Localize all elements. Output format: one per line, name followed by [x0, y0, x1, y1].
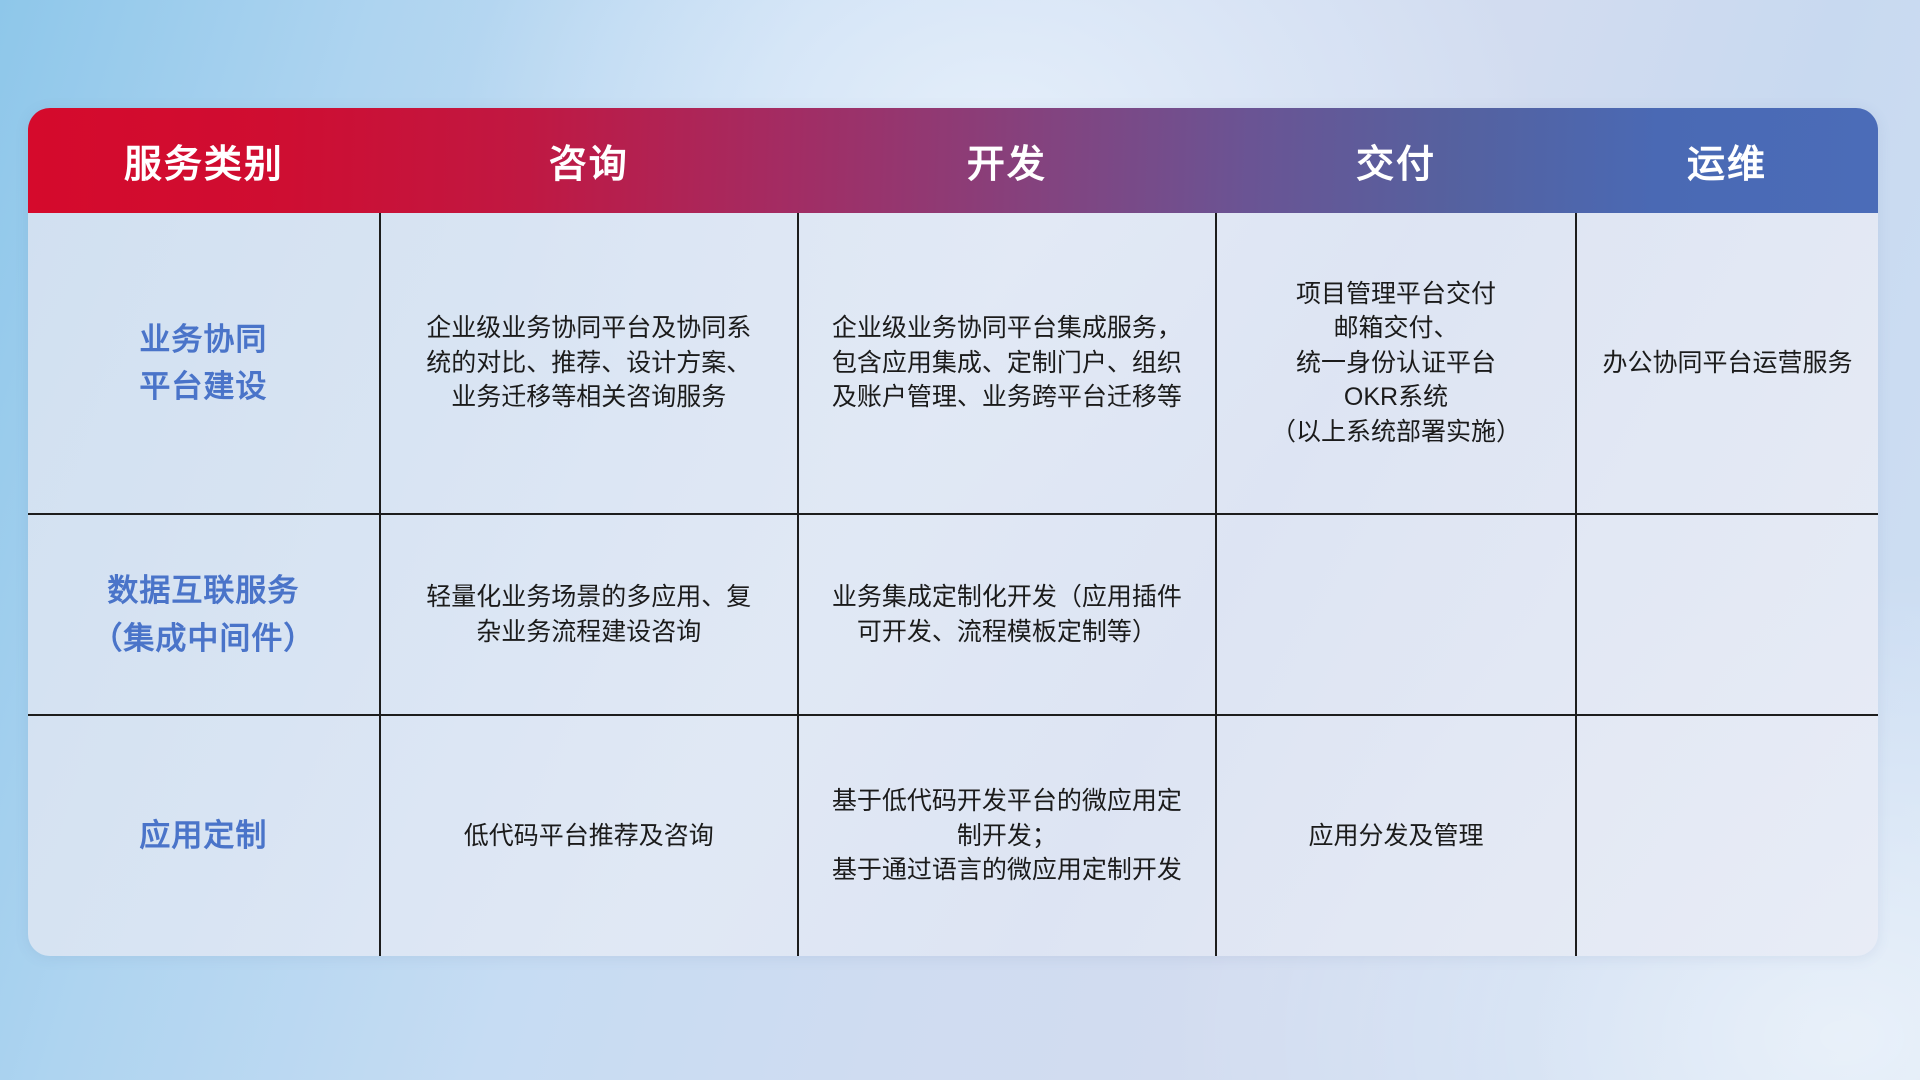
cell-delivery-row1: 项目管理平台交付 邮箱交付、 统一身份认证平台 OKR系统 （以上系统部署实施）	[1216, 213, 1576, 514]
table-row: 数据互联服务 （集成中间件） 轻量化业务场景的多应用、复 杂业务流程建设咨询 业…	[28, 514, 1878, 715]
cell-delivery-row2	[1216, 514, 1576, 715]
cell-category-row3: 应用定制	[28, 715, 380, 956]
cell-text: 办公协同平台运营服务	[1593, 346, 1862, 381]
table-row: 应用定制 低代码平台推荐及咨询 基于低代码开发平台的微应用定 制开发； 基于通过…	[28, 715, 1878, 956]
cell-text: 企业级业务协同平台及协同系 统的对比、推荐、设计方案、 业务迁移等相关咨询服务	[397, 311, 781, 415]
cell-category-row2: 数据互联服务 （集成中间件）	[28, 514, 380, 715]
cell-text	[1593, 614, 1862, 615]
cell-text: 低代码平台推荐及咨询	[397, 819, 781, 854]
column-header-operations: 运维	[1576, 108, 1878, 213]
cell-development-row2: 业务集成定制化开发（应用插件 可开发、流程模板定制等）	[798, 514, 1216, 715]
slide-canvas: 服务类别 咨询 开发 交付 运维 业务协同 平台建设 企业级业务协同平台及协同系…	[0, 0, 1920, 1080]
column-header-service-category: 服务类别	[28, 108, 380, 213]
column-header-consulting: 咨询	[380, 108, 798, 213]
cell-text: 基于低代码开发平台的微应用定 制开发； 基于通过语言的微应用定制开发	[815, 784, 1199, 888]
cell-consulting-row1: 企业级业务协同平台及协同系 统的对比、推荐、设计方案、 业务迁移等相关咨询服务	[380, 213, 798, 514]
cell-operations-row3	[1576, 715, 1878, 956]
cell-text: 业务集成定制化开发（应用插件 可开发、流程模板定制等）	[815, 580, 1199, 649]
service-matrix-table: 服务类别 咨询 开发 交付 运维 业务协同 平台建设 企业级业务协同平台及协同系…	[28, 108, 1878, 956]
cell-development-row1: 企业级业务协同平台集成服务， 包含应用集成、定制门户、组织 及账户管理、业务跨平…	[798, 213, 1216, 514]
table-header-row: 服务类别 咨询 开发 交付 运维	[28, 108, 1878, 213]
category-label: 业务协同 平台建设	[44, 316, 363, 410]
column-header-delivery: 交付	[1216, 108, 1576, 213]
cell-text: 企业级业务协同平台集成服务， 包含应用集成、定制门户、组织 及账户管理、业务跨平…	[815, 311, 1199, 415]
cell-delivery-row3: 应用分发及管理	[1216, 715, 1576, 956]
cell-text: 应用分发及管理	[1233, 819, 1559, 854]
category-label: 应用定制	[44, 812, 363, 859]
cell-category-row1: 业务协同 平台建设	[28, 213, 380, 514]
service-matrix-table-wrapper: 服务类别 咨询 开发 交付 运维 业务协同 平台建设 企业级业务协同平台及协同系…	[28, 108, 1878, 956]
cell-text	[1233, 614, 1559, 615]
cell-text: 项目管理平台交付 邮箱交付、 统一身份认证平台 OKR系统 （以上系统部署实施）	[1233, 277, 1559, 450]
cell-operations-row1: 办公协同平台运营服务	[1576, 213, 1878, 514]
table-body: 业务协同 平台建设 企业级业务协同平台及协同系 统的对比、推荐、设计方案、 业务…	[28, 213, 1878, 956]
cell-consulting-row2: 轻量化业务场景的多应用、复 杂业务流程建设咨询	[380, 514, 798, 715]
table-row: 业务协同 平台建设 企业级业务协同平台及协同系 统的对比、推荐、设计方案、 业务…	[28, 213, 1878, 514]
cell-development-row3: 基于低代码开发平台的微应用定 制开发； 基于通过语言的微应用定制开发	[798, 715, 1216, 956]
cell-operations-row2	[1576, 514, 1878, 715]
category-label: 数据互联服务 （集成中间件）	[44, 567, 363, 661]
cell-consulting-row3: 低代码平台推荐及咨询	[380, 715, 798, 956]
cell-text	[1593, 836, 1862, 837]
table-header: 服务类别 咨询 开发 交付 运维	[28, 108, 1878, 213]
column-header-development: 开发	[798, 108, 1216, 213]
cell-text: 轻量化业务场景的多应用、复 杂业务流程建设咨询	[397, 580, 781, 649]
